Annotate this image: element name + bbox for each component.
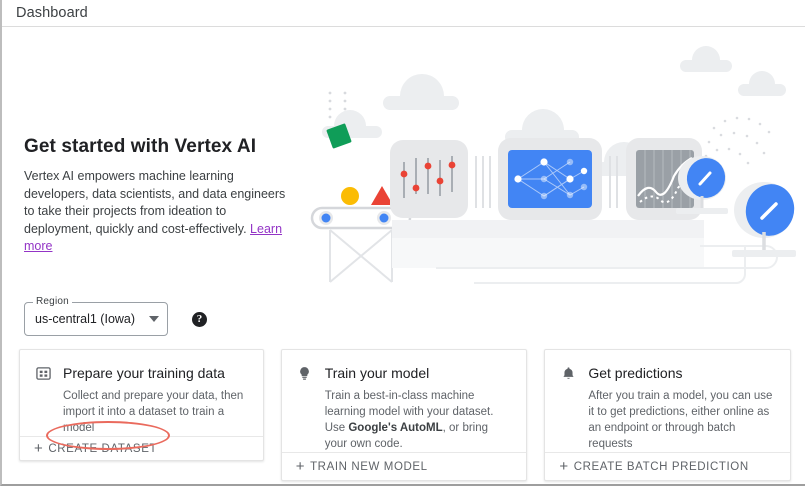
card-footer: + TRAIN NEW MODEL — [282, 452, 527, 480]
red-triangle-item — [371, 186, 393, 205]
yellow-circle-item — [341, 187, 359, 205]
create-batch-prediction-button[interactable]: + CREATE BATCH PREDICTION — [559, 459, 748, 474]
panel-separator — [476, 156, 490, 208]
card-description: Train a best-in-class machine learning m… — [282, 382, 527, 452]
desk-base — [392, 220, 777, 283]
card-header: Train your model — [282, 350, 527, 382]
table-grid-icon — [34, 364, 52, 382]
breadcrumb-bar: Dashboard — [2, 0, 805, 27]
region-selector-row: Region us-central1 (Iowa) ? — [24, 302, 207, 336]
plus-icon: + — [559, 459, 568, 474]
page-title: Dashboard — [16, 5, 88, 21]
hero-description: Vertex AI empowers machine learning deve… — [24, 168, 292, 256]
card-footer: + CREATE BATCH PREDICTION — [545, 452, 790, 480]
plus-icon: + — [296, 459, 305, 474]
sliders-panel — [390, 140, 468, 218]
create-batch-prediction-label: CREATE BATCH PREDICTION — [574, 461, 749, 473]
region-value: us-central1 (Iowa) — [35, 312, 145, 326]
hero-illustration — [304, 38, 804, 290]
plus-icon: + — [34, 441, 43, 456]
neural-network-panel — [498, 138, 602, 220]
card-footer: + CREATE DATASET — [20, 436, 263, 460]
card-prepare-training-data: Prepare your training data Collect and p… — [19, 349, 264, 461]
hero-banner: Get started with Vertex AI Vertex AI emp… — [4, 28, 805, 290]
hero-title: Get started with Vertex AI — [24, 136, 292, 158]
card-get-predictions: Get predictions After you train a model,… — [544, 349, 791, 481]
hero-text-block: Get started with Vertex AI Vertex AI emp… — [24, 136, 292, 256]
card-description: Collect and prepare your data, then impo… — [20, 382, 263, 436]
create-dataset-label: CREATE DATASET — [48, 443, 157, 455]
getting-started-cards: Prepare your training data Collect and p… — [19, 349, 791, 481]
train-new-model-label: TRAIN NEW MODEL — [310, 461, 428, 473]
card-title: Get predictions — [588, 364, 682, 382]
help-icon[interactable]: ? — [192, 312, 207, 327]
card-title: Train your model — [325, 364, 430, 382]
hero-description-text: Vertex AI empowers machine learning deve… — [24, 169, 285, 236]
region-label: Region — [33, 296, 72, 307]
card-description: After you train a model, you can use it … — [545, 382, 790, 452]
create-dataset-button[interactable]: + CREATE DATASET — [34, 441, 157, 456]
card-header: Prepare your training data — [20, 350, 263, 382]
card-title: Prepare your training data — [63, 364, 225, 382]
lightbulb-icon — [296, 364, 314, 382]
vertex-ai-dashboard-page: Dashboard Get started with Vertex AI Ver… — [0, 0, 805, 486]
train-new-model-button[interactable]: + TRAIN NEW MODEL — [296, 459, 428, 474]
chevron-down-icon — [149, 316, 159, 322]
bell-icon — [559, 364, 577, 382]
card-train-your-model: Train your model Train a best-in-class m… — [281, 349, 528, 481]
region-select[interactable]: Region us-central1 (Iowa) — [24, 302, 168, 336]
card-header: Get predictions — [545, 350, 790, 382]
